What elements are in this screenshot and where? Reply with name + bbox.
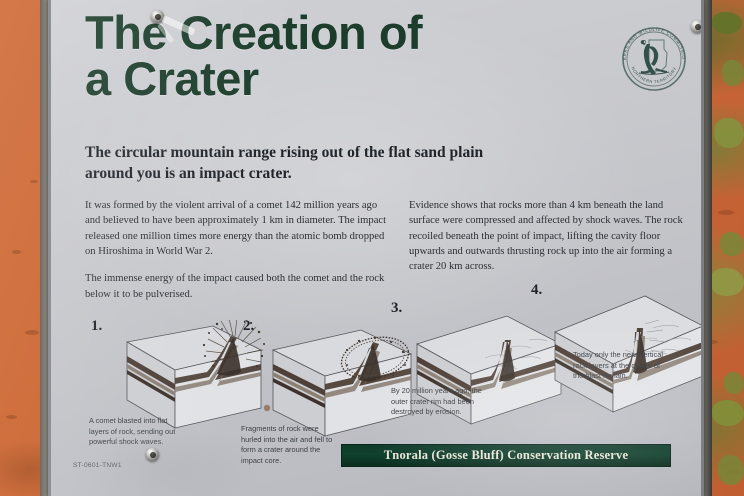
mounting-bolt-top-right [691, 20, 704, 33]
figure-4-caption: Today only the near vertical rock layers… [573, 350, 663, 382]
figure-1-number: 1. [91, 318, 102, 335]
title-line-2: a Crater [85, 56, 555, 102]
subtitle: The circular mountain range rising out o… [85, 143, 485, 184]
parks-and-wildlife-commission-logo: PARKS AND WILDLIFE COMMISSION NORTHERN T… [617, 22, 691, 96]
body-paragraph: Evidence shows that rocks more than 4 km… [409, 198, 687, 275]
crater-formation-diagram-series: 1. [51, 276, 704, 448]
reserve-name-text: Tnorala (Gosse Bluff) Conservation Reser… [384, 448, 628, 463]
figure-1: 1. [89, 320, 265, 440]
svg-text:PARKS AND WILDLIFE COMMISSION: PARKS AND WILDLIFE COMMISSION [617, 22, 686, 60]
body-text-right-column: Evidence shows that rocks more than 4 km… [409, 198, 687, 275]
figure-4-number: 4. [531, 282, 542, 299]
figure-3-number: 3. [391, 300, 402, 317]
figure-1-caption: A comet blasted into flat layers of rock… [89, 416, 181, 448]
mounting-bolt-bottom-left [146, 448, 159, 461]
reserve-name-banner: Tnorala (Gosse Bluff) Conservation Reser… [341, 444, 671, 467]
figure-2-number: 2. [243, 318, 254, 335]
figure-4: 4. [529, 284, 704, 420]
figure-3-caption: By 20 million years ago, the outer crate… [391, 386, 483, 418]
figure-2-caption: Fragments of rock were hurled into the a… [241, 424, 333, 466]
page-title: The Creation of a Crater [85, 10, 555, 101]
interpretive-sign-panel: The Creation of a Crater The circular mo… [48, 0, 704, 496]
svg-text:NORTHERN TERRITORY: NORTHERN TERRITORY [631, 66, 678, 84]
sign-production-code: ST-0601-TNW1 [73, 462, 122, 469]
body-paragraph: It was formed by the violent arrival of … [85, 198, 390, 259]
logo-emblem-icon: PARKS AND WILDLIFE COMMISSION NORTHERN T… [617, 22, 691, 96]
